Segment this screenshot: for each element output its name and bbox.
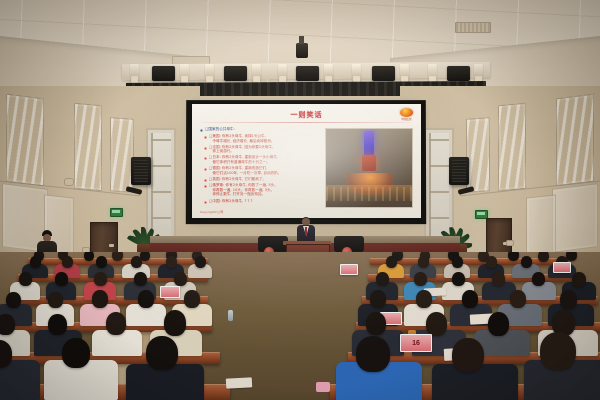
attendee-head [414, 272, 427, 286]
handout-paper [226, 377, 252, 388]
attendee-head [521, 256, 532, 268]
attendee-head [92, 290, 108, 308]
list-item: □德国: 你有2头母牛, 重新改造它们, 使它们活100年, 一月吃一次草, 自… [204, 166, 308, 175]
slide-photo-night-tower [325, 128, 413, 208]
spotlight-icon [324, 64, 333, 82]
attendee-head [572, 272, 586, 287]
bullet-square-icon [204, 136, 207, 139]
bullet-text: □中国: 你有2头母牛, ? ? ? [209, 199, 252, 204]
attendee-head [62, 256, 73, 268]
attendee-head [452, 338, 484, 372]
stage-light-icon [152, 66, 175, 81]
attendee-head [376, 272, 389, 286]
logo-disc [400, 108, 413, 117]
list-item: □法国: 你有2头母牛, 因为你要2头母牛, 你上街游行。 [204, 145, 308, 154]
list-item: □俄罗斯: 你有2头母牛, 你数了一遍, 5头。 你再数一遍, 10头。你再数一… [204, 183, 308, 197]
attendee-head [96, 256, 107, 268]
spotlight-icon [278, 64, 287, 82]
attendee-head [418, 256, 429, 268]
attendee-head [0, 314, 15, 335]
water-bottle [228, 310, 233, 321]
attendee-head [112, 252, 123, 261]
bullet-text: □俄罗斯: 你有2头母牛, 你数了一遍, 5头。 你再数一遍, 10头。你再数一… [209, 183, 278, 197]
attendee-head [492, 272, 505, 286]
spotlight-icon [130, 64, 139, 82]
attendee-head [426, 312, 447, 336]
attendee-head [19, 272, 32, 286]
slide-title: 一则笑话 [192, 110, 421, 120]
slide-heading-row: □国家的公共母牛: [200, 127, 308, 132]
exit-sign-icon-left [110, 208, 123, 217]
stage-light-icon [296, 66, 319, 81]
bullet-text: □英国: 你有2头母牛, 它们都疯了。 [209, 177, 266, 182]
attendee-head [166, 256, 177, 268]
presenter-tie [305, 227, 307, 235]
logo-caption: 中国石化 [399, 118, 414, 121]
wall-speaker-right [449, 157, 469, 185]
bullet-square-icon [204, 157, 207, 160]
attendee-head [486, 256, 497, 268]
spotlight-icon [252, 64, 261, 82]
wall-panel [6, 94, 44, 187]
slide-heading-text: □国家的公共母牛: [205, 127, 235, 132]
desk-placard [553, 262, 571, 273]
spotlight-icon [205, 64, 214, 82]
attendee-head [106, 312, 126, 335]
attendee-head [195, 256, 206, 268]
tower-upper-lit-blue [364, 131, 374, 157]
spotlight-icon [180, 64, 189, 82]
bullet-text: □日本: 你有2头母牛, 重新设计一头小母牛, 使它体积只有普通母牛的十分之一。 [209, 155, 278, 164]
slide-title-rule [202, 122, 411, 123]
attendee-head [134, 272, 147, 286]
bullet-square-icon [200, 129, 203, 132]
attendee-head [386, 256, 397, 268]
slide-bullet-list: □国家的公共母牛: □美国: 你有2头母牛, 卖掉1头公牛, 令母牛增长, 经济… [200, 127, 308, 205]
attendee-head [6, 292, 21, 308]
audience-area: 16 [0, 252, 600, 400]
spotlight-icon [428, 64, 437, 82]
projection-screen: 一则笑话 中国石化 □国家的公共母牛: □美国: 你有2头母牛, 卖掉1头公牛,… [192, 104, 421, 218]
lecture-hall-photo: 一则笑话 中国石化 □国家的公共母牛: □美国: 你有2头母牛, 卖掉1头公牛,… [0, 0, 600, 400]
bullet-text: □法国: 你有2头母牛, 因为你要2头母牛, 你上街游行。 [209, 145, 273, 154]
attendee-head [510, 290, 526, 308]
attendee-head [452, 256, 463, 268]
wall-outlet-icon [506, 240, 514, 246]
speaker-grille [452, 160, 466, 182]
air-vent-icon [455, 22, 491, 33]
attendee-head [131, 256, 142, 268]
list-item: □英国: 你有2头母牛, 它们都疯了。 [204, 177, 308, 182]
slide-copyright: Copyright©公司 [200, 210, 223, 214]
attendee-head [184, 290, 200, 308]
desk-placard [160, 286, 180, 298]
bullet-square-icon [204, 147, 207, 150]
attendee-head [146, 336, 178, 370]
bullet-square-icon [204, 179, 207, 182]
list-item: □日本: 你有2头母牛, 重新设计一头小母牛, 使它体积只有普通母牛的十分之一。 [204, 155, 308, 164]
desk-placard-number: 16 [400, 334, 432, 352]
speaker-grille [134, 160, 148, 182]
attendee-head [356, 336, 390, 372]
bullet-square-icon [204, 201, 207, 204]
stage-light-icon [372, 66, 395, 81]
spotlight-icon [352, 64, 361, 82]
attendee-head [488, 312, 509, 336]
attendee-head [366, 312, 386, 335]
wall-panel [526, 194, 556, 257]
list-item: □中国: 你有2头母牛, ? ? ? [204, 199, 308, 204]
pink-item [316, 382, 330, 392]
tower-lower-lit-orange [362, 155, 376, 171]
attendee-head [62, 338, 90, 368]
attendee-head [55, 272, 68, 286]
attendee-head [370, 290, 386, 308]
presentation-slide: 一则笑话 中国石化 □国家的公共母牛: □美国: 你有2头母牛, 卖掉1头公牛,… [192, 104, 421, 218]
bullet-square-icon [204, 185, 207, 188]
wall-panel [552, 183, 598, 253]
attendee-head [532, 272, 545, 286]
projector-icon [296, 43, 308, 58]
attendee-head [538, 252, 549, 262]
attendee-head [30, 256, 41, 268]
wall-panel [466, 117, 490, 193]
city-lights [326, 187, 412, 201]
wall-panel [556, 94, 594, 187]
wall-sensor-icon [64, 178, 74, 186]
wall-panel [74, 103, 102, 191]
wall-speaker-left [131, 157, 151, 185]
attendee-head [174, 272, 187, 286]
wall-panel [498, 103, 526, 191]
attendee-head [540, 332, 576, 370]
attendee-head [164, 310, 186, 336]
list-item: □美国: 你有2头母牛, 卖掉1头公牛, 令母牛增长, 经济增长, 最后卖掉股份… [204, 134, 308, 143]
attendee-head [94, 272, 107, 286]
attendee-head [84, 252, 94, 261]
attendee-head [560, 290, 577, 309]
company-logo-icon: 中国石化 [399, 108, 414, 121]
stage-light-icon [447, 66, 470, 81]
bullet-text: □德国: 你有2头母牛, 重新改造它们, 使它们活100年, 一月吃一次草, 自… [209, 166, 281, 175]
attendee-head [508, 252, 519, 261]
desk-placard [340, 264, 358, 275]
attendee-head [48, 292, 63, 308]
attendee-head [462, 290, 478, 308]
attendee-head [416, 290, 432, 308]
attendee-head [48, 314, 67, 335]
bullet-text: □美国: 你有2头母牛, 卖掉1头公牛, 令母牛增长, 经济增长, 最后卖掉股份… [209, 134, 275, 143]
attendee-head [138, 290, 154, 308]
spotlight-icon [474, 64, 483, 82]
stage-light-icon [224, 66, 247, 81]
attendee-head [452, 272, 465, 286]
bullet-square-icon [204, 168, 207, 171]
spotlight-icon [400, 64, 409, 82]
